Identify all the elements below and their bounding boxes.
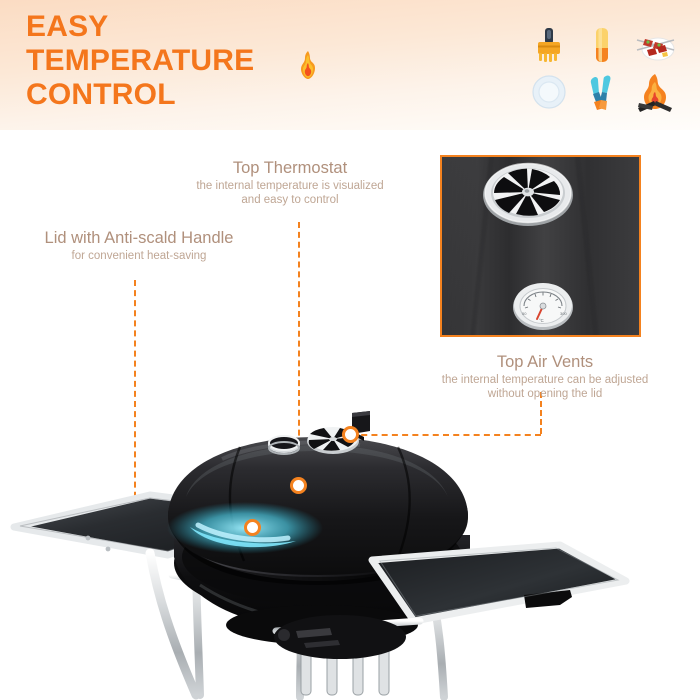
chrome-air-vent	[482, 159, 574, 227]
lid-detail-photo: 50 300 °C	[440, 155, 641, 337]
basting-brush-icon	[527, 26, 571, 66]
page-title: EASY TEMPERATURE CONTROL	[26, 10, 254, 112]
plate-icon	[527, 72, 571, 112]
grill-tongs-icon	[580, 72, 624, 112]
callout-top-thermostat: Top Thermostat the internal temperature …	[150, 158, 430, 207]
right-side-table	[372, 545, 626, 621]
svg-text:°C: °C	[539, 318, 544, 323]
marker-thermostat[interactable]	[290, 477, 307, 494]
lid-thermostat-ring	[268, 436, 300, 454]
callout-title: Top Thermostat	[150, 158, 430, 178]
meat-skewers-icon	[633, 26, 677, 66]
callout-subtitle: for convenient heat-saving	[4, 249, 274, 263]
sauce-bottle-icon	[580, 26, 624, 66]
callout-lid-anti-scald-handle: Lid with Anti-scald Handle for convenien…	[4, 228, 274, 263]
ash-catcher	[274, 615, 406, 659]
callout-title: Lid with Anti-scald Handle	[4, 228, 274, 248]
callout-title: Top Air Vents	[392, 352, 698, 372]
flame-icon	[295, 50, 321, 80]
svg-text:50: 50	[522, 311, 527, 316]
thermostat-gauge: 50 300 °C	[512, 281, 574, 331]
header-icon-cluster	[525, 26, 685, 114]
svg-text:300: 300	[560, 311, 567, 316]
marker-handle[interactable]	[244, 519, 261, 536]
marker-air-vent[interactable]	[342, 426, 359, 443]
callout-subtitle: the internal temperature is visualized a…	[150, 179, 430, 207]
header-banner: EASY TEMPERATURE CONTROL	[0, 0, 700, 130]
campfire-icon	[633, 72, 677, 112]
